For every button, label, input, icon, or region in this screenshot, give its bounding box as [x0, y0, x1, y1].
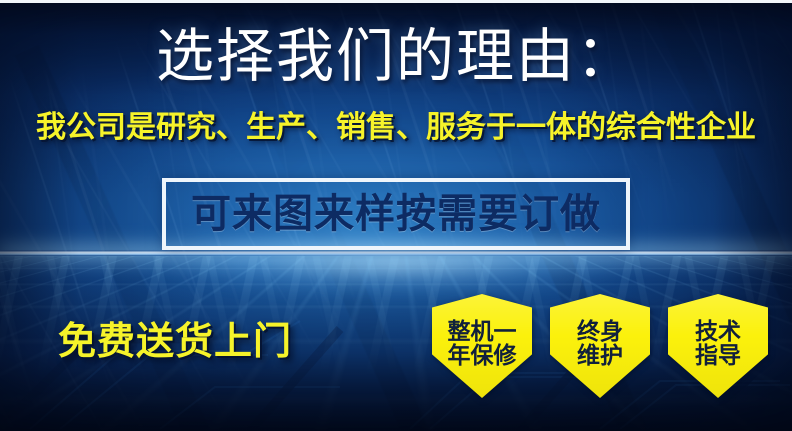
page-title: 选择我们的理由： — [0, 28, 792, 86]
promo-banner: 选择我们的理由： 我公司是研究、生产、销售、服务于一体的综合性企业 可来图来样按… — [0, 0, 792, 431]
service-badge-group: 整机一 年保修 终身 维护 技术 指导 — [432, 294, 768, 398]
custom-order-callout: 可来图来样按需要订做 — [162, 178, 630, 250]
badge-lifetime-maintenance-label: 终身 维护 — [577, 320, 623, 368]
free-delivery-text: 免费送货上门 — [58, 323, 292, 361]
badge-warranty-line1: 整机一 — [448, 320, 517, 344]
badge-technical-guidance-line1: 技术 — [695, 320, 741, 344]
badge-technical-guidance-label: 技术 指导 — [695, 320, 741, 368]
badge-lifetime-maintenance-line2: 维护 — [577, 344, 623, 368]
badge-lifetime-maintenance: 终身 维护 — [550, 294, 650, 398]
badge-technical-guidance: 技术 指导 — [668, 294, 768, 398]
custom-order-callout-text: 可来图来样按需要订做 — [191, 194, 601, 234]
badge-warranty-line2: 年保修 — [448, 344, 517, 368]
badge-warranty-label: 整机一 年保修 — [448, 320, 517, 368]
badge-technical-guidance-line2: 指导 — [695, 344, 741, 368]
company-subtitle: 我公司是研究、生产、销售、服务于一体的综合性企业 — [0, 113, 792, 143]
badge-warranty: 整机一 年保修 — [432, 294, 532, 398]
top-white-strip — [0, 0, 792, 3]
badge-lifetime-maintenance-line1: 终身 — [577, 320, 623, 344]
